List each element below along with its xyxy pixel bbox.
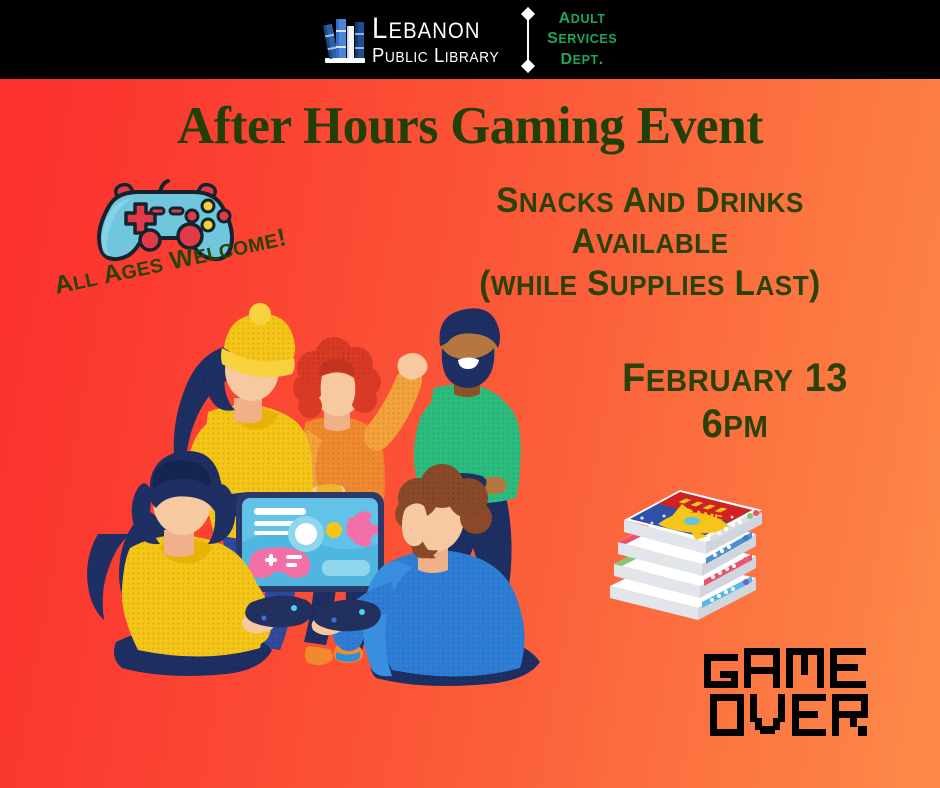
snacks-line-1: SNACKS AND DRINKS [465,180,836,221]
logo-wordmark: LEBANON PUBLIC LIBRARY [372,14,510,66]
flyer-canvas: LEBANON PUBLIC LIBRARY ADULT SERVICES DE… [0,0,940,788]
dept-line-services: SERVICES [547,29,617,49]
tablet-screen [236,492,384,592]
event-date: FEBRUARY 13 [593,355,878,401]
logo-line-lebanon: LEBANON [372,14,481,44]
group-of-people-gaming-illustration [82,302,602,722]
dept-line-dept: DEPT. [547,50,617,70]
department-label: ADULT SERVICES DEPT. [547,9,617,70]
logo-line-public-library: PUBLIC LIBRARY [372,46,499,66]
game-over-pixel-text: GAME OVER [700,638,888,742]
event-date-block: FEBRUARY 13 6PM [593,355,878,448]
snacks-info-block: SNACKS AND DRINKS AVAILABLE (WHILE SUPPL… [465,180,836,304]
snacks-line-3: (WHILE SUPPLIES LAST) [465,263,836,304]
page-title: After Hours Gaming Event [14,96,926,156]
snacks-line-2: AVAILABLE [465,221,836,262]
vertical-diamond-divider-icon [522,8,534,72]
event-time: 6PM [593,401,878,447]
header-bar: LEBANON PUBLIC LIBRARY ADULT SERVICES DE… [0,0,940,79]
library-logo: LEBANON PUBLIC LIBRARY ADULT SERVICES DE… [323,8,617,72]
stack-of-game-boxes-icon: GAME [600,462,765,622]
dept-line-adult: ADULT [547,9,617,29]
library-books-icon [323,14,367,66]
